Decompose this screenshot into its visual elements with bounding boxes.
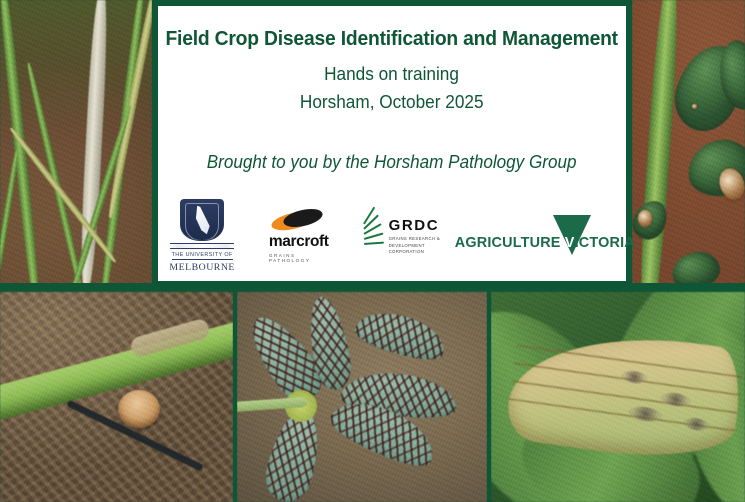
grdc-tagline: GRAINS RESEARCH & DEVELOPMENT CORPORATIO… xyxy=(389,236,441,255)
marcroft-swoosh-icon xyxy=(271,209,327,232)
photo-sclerotinia-apothecium xyxy=(0,292,233,502)
logo-university-of-melbourne: THE UNIVERSITY OF MELBOURNE xyxy=(169,199,234,274)
marcroft-tagline: GRAINS PATHOLOGY xyxy=(269,253,329,263)
title-card: Field Crop Disease Identification and Ma… xyxy=(158,6,626,281)
marcroft-wordmark: marcroft xyxy=(269,233,329,251)
event-location-line: Horsham, October 2025 xyxy=(300,88,484,117)
photo-cereal-leaf-blotch xyxy=(491,292,745,502)
logo-marcroft: marcroft GRAINS PATHOLOGY xyxy=(269,209,329,263)
flyer-canvas: Field Crop Disease Identification and Ma… xyxy=(0,0,745,502)
bottom-divider-right xyxy=(487,292,491,502)
photo-legume-lesion xyxy=(632,0,745,290)
photo-lupin-leaf-blotch xyxy=(237,292,487,502)
presented-by-line: Brought to you by the Horsham Pathology … xyxy=(207,152,577,173)
unimelb-line2-text: MELBOURNE xyxy=(169,262,234,273)
bottom-divider-left xyxy=(233,292,237,502)
agvic-wordmark-part1: AGRICULTURE xyxy=(455,234,565,251)
unimelb-crest-icon xyxy=(180,199,224,241)
event-format-line: Hands on training xyxy=(325,60,460,89)
unimelb-ribbon-icon xyxy=(170,243,234,249)
unimelb-line1-text: THE UNIVERSITY OF xyxy=(172,252,233,261)
grdc-wheat-leaf-icon xyxy=(363,221,385,251)
agvic-wordmark-v: V xyxy=(565,234,575,251)
grdc-wordmark: GRDC xyxy=(389,217,441,234)
agvic-wordmark-part2: ICTORIA xyxy=(574,234,634,251)
photo-canola-stems xyxy=(0,0,152,290)
logo-agriculture-victoria: AGRICULTURE VICTORIA xyxy=(475,213,615,259)
title-panel: Field Crop Disease Identification and Ma… xyxy=(152,0,632,290)
page-title: Field Crop Disease Identification and Ma… xyxy=(166,28,618,51)
horizontal-divider xyxy=(0,283,745,292)
logo-grdc: GRDC GRAINS RESEARCH & DEVELOPMENT CORPO… xyxy=(363,217,441,255)
sponsor-logo-strip: THE UNIVERSITY OF MELBOURNE marcroft GRA… xyxy=(158,199,626,274)
agvic-wordmark: AGRICULTURE VICTORIA xyxy=(455,234,635,251)
